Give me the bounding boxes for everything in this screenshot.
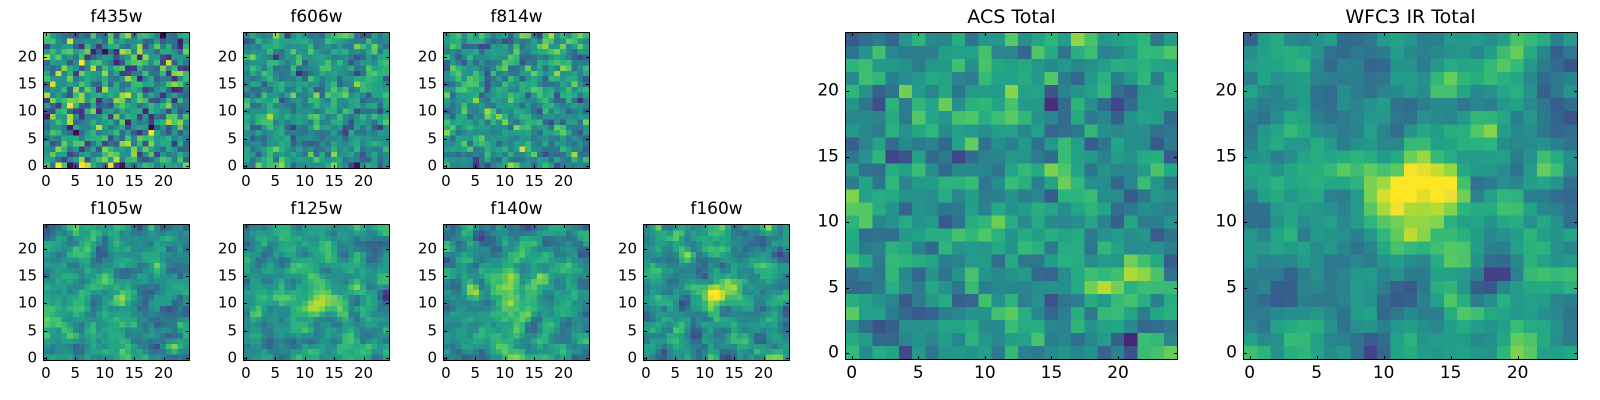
panel-f140w: f140w 0510152005101520 <box>397 198 590 391</box>
y-tick-label: 0 <box>397 351 437 366</box>
y-tick-mark <box>186 139 190 140</box>
y-tick-label: 0 <box>397 159 437 174</box>
x-tick-mark <box>134 165 135 169</box>
y-tick-label: 15 <box>0 77 37 92</box>
x-tick-mark <box>46 224 47 228</box>
x-tick-label: 10 <box>295 174 314 189</box>
y-tick-mark <box>1574 222 1578 223</box>
x-tick-label: 15 <box>725 366 744 381</box>
x-tick-mark <box>1451 32 1452 36</box>
x-tick-mark <box>505 165 506 169</box>
y-tick-label: 10 <box>1197 214 1237 231</box>
y-tick-mark <box>1174 222 1178 223</box>
y-tick-label: 15 <box>397 269 437 284</box>
x-tick-mark <box>564 165 565 169</box>
x-tick-label: 5 <box>71 366 81 381</box>
y-tick-label: 5 <box>597 323 637 338</box>
y-tick-label: 20 <box>1197 83 1237 100</box>
y-tick-mark <box>643 276 647 277</box>
y-tick-label: 20 <box>197 241 237 256</box>
x-tick-label: 15 <box>325 174 344 189</box>
x-tick-mark <box>852 356 853 360</box>
heatmap-f606w <box>244 33 389 168</box>
y-tick-label: 10 <box>799 214 839 231</box>
y-tick-mark <box>386 276 390 277</box>
x-tick-mark <box>675 224 676 228</box>
y-tick-label: 10 <box>0 296 37 311</box>
y-tick-mark <box>643 303 647 304</box>
y-tick-label: 0 <box>799 345 839 362</box>
y-tick-label: 0 <box>597 351 637 366</box>
y-tick-mark <box>43 111 47 112</box>
y-tick-mark <box>43 331 47 332</box>
y-tick-mark <box>243 84 247 85</box>
panel-title-f814w: f814w <box>443 6 590 28</box>
x-tick-mark <box>134 32 135 36</box>
y-tick-label: 15 <box>597 269 637 284</box>
x-tick-mark <box>1051 356 1052 360</box>
y-tick-label: 20 <box>397 49 437 64</box>
y-tick-mark <box>43 57 47 58</box>
y-tick-mark <box>845 91 849 92</box>
y-tick-label: 15 <box>197 269 237 284</box>
panel-title-acs-total: ACS Total <box>845 6 1178 28</box>
y-tick-label: 20 <box>799 83 839 100</box>
x-tick-mark <box>75 357 76 361</box>
x-tick-label: 15 <box>125 174 144 189</box>
x-tick-label: 20 <box>154 174 173 189</box>
x-tick-label: 5 <box>471 174 481 189</box>
x-tick-mark <box>1384 356 1385 360</box>
y-tick-mark <box>43 249 47 250</box>
x-tick-mark <box>246 32 247 36</box>
x-tick-label: 5 <box>71 174 81 189</box>
x-tick-mark <box>305 357 306 361</box>
x-tick-mark <box>275 224 276 228</box>
y-tick-mark <box>43 166 47 167</box>
y-tick-mark <box>443 166 447 167</box>
y-tick-mark <box>586 358 590 359</box>
x-tick-mark <box>305 165 306 169</box>
x-tick-mark <box>564 224 565 228</box>
x-tick-mark <box>475 224 476 228</box>
y-tick-label: 5 <box>397 131 437 146</box>
x-tick-label: 20 <box>554 366 573 381</box>
x-tick-mark <box>164 32 165 36</box>
y-tick-label: 5 <box>0 131 37 146</box>
y-tick-label: 5 <box>397 323 437 338</box>
y-tick-label: 10 <box>597 296 637 311</box>
x-tick-label: 10 <box>95 366 114 381</box>
x-tick-mark <box>705 357 706 361</box>
panel-title-f105w: f105w <box>43 198 190 220</box>
x-tick-mark <box>675 357 676 361</box>
x-tick-mark <box>75 165 76 169</box>
x-tick-mark <box>534 165 535 169</box>
y-tick-mark <box>386 139 390 140</box>
x-tick-mark <box>534 32 535 36</box>
x-tick-mark <box>764 357 765 361</box>
y-tick-mark <box>186 84 190 85</box>
y-tick-mark <box>1574 91 1578 92</box>
x-tick-label: 0 <box>41 174 51 189</box>
panel-acs-total: ACS Total 0510152005101520 <box>799 6 1178 390</box>
x-tick-mark <box>646 224 647 228</box>
y-tick-mark <box>786 303 790 304</box>
x-tick-mark <box>534 357 535 361</box>
x-tick-mark <box>764 224 765 228</box>
y-tick-label: 10 <box>0 104 37 119</box>
y-tick-mark <box>1174 288 1178 289</box>
x-tick-label: 15 <box>1041 365 1063 382</box>
y-tick-mark <box>243 57 247 58</box>
x-tick-mark <box>1518 356 1519 360</box>
figure-canvas: f435w 0510152005101520 f606w 05101520051… <box>0 0 1600 400</box>
axes-acs-total <box>845 32 1178 360</box>
x-tick-label: 10 <box>974 365 996 382</box>
x-tick-mark <box>334 357 335 361</box>
y-tick-mark <box>586 111 590 112</box>
y-tick-label: 10 <box>197 104 237 119</box>
x-tick-mark <box>305 32 306 36</box>
y-tick-label: 20 <box>197 49 237 64</box>
y-tick-label: 15 <box>799 148 839 165</box>
y-tick-mark <box>43 358 47 359</box>
y-tick-mark <box>443 139 447 140</box>
y-tick-mark <box>186 111 190 112</box>
x-tick-label: 0 <box>441 366 451 381</box>
y-tick-mark <box>386 111 390 112</box>
y-tick-mark <box>443 111 447 112</box>
y-tick-label: 15 <box>197 77 237 92</box>
y-tick-mark <box>43 139 47 140</box>
y-tick-mark <box>186 331 190 332</box>
x-tick-mark <box>446 32 447 36</box>
x-tick-mark <box>46 32 47 36</box>
y-tick-label: 0 <box>1197 345 1237 362</box>
heatmap-wfc3-ir-total <box>1244 33 1577 359</box>
y-tick-label: 0 <box>197 351 237 366</box>
y-tick-label: 20 <box>0 49 37 64</box>
x-tick-label: 5 <box>271 366 281 381</box>
x-tick-mark <box>364 32 365 36</box>
x-tick-mark <box>275 357 276 361</box>
x-tick-mark <box>734 224 735 228</box>
x-tick-label: 20 <box>1107 365 1129 382</box>
panel-title-f435w: f435w <box>43 6 190 28</box>
panel-title-wfc3-ir-total: WFC3 IR Total <box>1243 6 1578 28</box>
x-tick-label: 5 <box>1311 365 1322 382</box>
x-tick-mark <box>75 224 76 228</box>
y-tick-mark <box>786 358 790 359</box>
x-tick-mark <box>1317 356 1318 360</box>
x-tick-label: 20 <box>554 174 573 189</box>
panel-f814w: f814w 0510152005101520 <box>397 6 590 199</box>
y-tick-mark <box>845 288 849 289</box>
y-tick-mark <box>186 276 190 277</box>
panel-title-f160w: f160w <box>643 198 790 220</box>
y-tick-label: 5 <box>799 279 839 296</box>
y-tick-mark <box>243 111 247 112</box>
y-tick-mark <box>1243 353 1247 354</box>
x-tick-mark <box>734 357 735 361</box>
panel-f105w: f105w 0510152005101520 <box>0 198 190 391</box>
y-tick-mark <box>243 139 247 140</box>
heatmap-f105w <box>44 225 189 360</box>
y-tick-label: 15 <box>0 269 37 284</box>
x-tick-mark <box>475 165 476 169</box>
y-tick-label: 20 <box>597 241 637 256</box>
y-tick-mark <box>643 358 647 359</box>
panel-f435w: f435w 0510152005101520 <box>0 6 190 199</box>
x-tick-mark <box>852 32 853 36</box>
y-tick-mark <box>1243 222 1247 223</box>
x-tick-mark <box>985 356 986 360</box>
y-tick-mark <box>186 57 190 58</box>
panel-title-f606w: f606w <box>243 6 390 28</box>
axes-f105w <box>43 224 190 361</box>
heatmap-f814w <box>444 33 589 168</box>
axes-f435w <box>43 32 190 169</box>
x-tick-mark <box>105 165 106 169</box>
x-tick-mark <box>564 32 565 36</box>
x-tick-mark <box>1451 356 1452 360</box>
y-tick-mark <box>386 303 390 304</box>
y-tick-mark <box>243 358 247 359</box>
y-tick-label: 20 <box>397 241 437 256</box>
heatmap-acs-total <box>846 33 1177 359</box>
y-tick-mark <box>43 276 47 277</box>
panel-title-f140w: f140w <box>443 198 590 220</box>
x-tick-mark <box>1051 32 1052 36</box>
y-tick-mark <box>586 331 590 332</box>
axes-f140w <box>443 224 590 361</box>
y-tick-mark <box>243 276 247 277</box>
axes-f814w <box>443 32 590 169</box>
x-tick-mark <box>1250 32 1251 36</box>
x-tick-mark <box>164 357 165 361</box>
x-tick-label: 20 <box>1507 365 1529 382</box>
x-tick-mark <box>1317 32 1318 36</box>
x-tick-label: 20 <box>754 366 773 381</box>
y-tick-mark <box>443 358 447 359</box>
y-tick-label: 5 <box>1197 279 1237 296</box>
x-tick-mark <box>134 357 135 361</box>
x-tick-label: 5 <box>471 366 481 381</box>
y-tick-mark <box>586 303 590 304</box>
x-tick-label: 10 <box>295 366 314 381</box>
axes-wfc3-ir-total <box>1243 32 1578 360</box>
y-tick-mark <box>186 303 190 304</box>
heatmap-f160w <box>644 225 789 360</box>
x-tick-mark <box>446 224 447 228</box>
x-tick-mark <box>105 357 106 361</box>
y-tick-mark <box>243 249 247 250</box>
y-tick-mark <box>386 166 390 167</box>
y-tick-label: 10 <box>397 104 437 119</box>
y-tick-label: 5 <box>0 323 37 338</box>
y-tick-mark <box>386 249 390 250</box>
y-tick-mark <box>386 84 390 85</box>
y-tick-mark <box>586 249 590 250</box>
x-tick-mark <box>918 356 919 360</box>
x-tick-label: 5 <box>671 366 681 381</box>
y-tick-label: 15 <box>1197 148 1237 165</box>
x-tick-mark <box>1518 32 1519 36</box>
x-tick-mark <box>164 165 165 169</box>
x-tick-label: 10 <box>495 366 514 381</box>
x-tick-mark <box>105 32 106 36</box>
y-tick-label: 20 <box>0 241 37 256</box>
y-tick-label: 10 <box>197 296 237 311</box>
x-tick-mark <box>364 165 365 169</box>
heatmap-f125w <box>244 225 389 360</box>
x-tick-label: 0 <box>441 174 451 189</box>
y-tick-mark <box>1174 157 1178 158</box>
axes-f160w <box>643 224 790 361</box>
y-tick-mark <box>845 157 849 158</box>
y-tick-mark <box>443 276 447 277</box>
x-tick-label: 5 <box>913 365 924 382</box>
y-tick-mark <box>43 84 47 85</box>
y-tick-mark <box>1574 157 1578 158</box>
panel-f125w: f125w 0510152005101520 <box>197 198 390 391</box>
x-tick-mark <box>105 224 106 228</box>
x-tick-mark <box>1384 32 1385 36</box>
x-tick-label: 0 <box>1244 365 1255 382</box>
x-tick-label: 15 <box>525 174 544 189</box>
y-tick-mark <box>586 139 590 140</box>
heatmap-f435w <box>44 33 189 168</box>
y-tick-label: 5 <box>197 323 237 338</box>
y-tick-mark <box>1174 353 1178 354</box>
x-tick-mark <box>134 224 135 228</box>
y-tick-mark <box>1243 288 1247 289</box>
y-tick-mark <box>1174 91 1178 92</box>
y-tick-mark <box>443 303 447 304</box>
y-tick-label: 10 <box>397 296 437 311</box>
x-tick-mark <box>705 224 706 228</box>
x-tick-label: 0 <box>241 366 251 381</box>
x-tick-label: 15 <box>125 366 144 381</box>
y-tick-mark <box>186 358 190 359</box>
x-tick-mark <box>334 32 335 36</box>
panel-wfc3-ir-total: WFC3 IR Total 0510152005101520 <box>1197 6 1578 390</box>
x-tick-label: 10 <box>1373 365 1395 382</box>
y-tick-mark <box>386 358 390 359</box>
x-tick-mark <box>164 224 165 228</box>
y-tick-mark <box>386 331 390 332</box>
y-tick-mark <box>243 303 247 304</box>
x-tick-label: 10 <box>95 174 114 189</box>
y-tick-mark <box>443 57 447 58</box>
x-tick-label: 10 <box>695 366 714 381</box>
y-tick-mark <box>1243 91 1247 92</box>
y-tick-label: 5 <box>197 131 237 146</box>
heatmap-f140w <box>444 225 589 360</box>
x-tick-label: 0 <box>641 366 651 381</box>
y-tick-mark <box>586 84 590 85</box>
x-tick-mark <box>505 32 506 36</box>
x-tick-mark <box>564 357 565 361</box>
x-tick-mark <box>334 224 335 228</box>
axes-f125w <box>243 224 390 361</box>
y-tick-mark <box>586 166 590 167</box>
y-tick-mark <box>786 276 790 277</box>
y-tick-mark <box>443 84 447 85</box>
y-tick-mark <box>186 166 190 167</box>
x-tick-mark <box>246 224 247 228</box>
y-tick-mark <box>43 303 47 304</box>
x-tick-mark <box>475 357 476 361</box>
y-tick-mark <box>243 331 247 332</box>
y-tick-mark <box>786 331 790 332</box>
y-tick-mark <box>386 57 390 58</box>
x-tick-mark <box>305 224 306 228</box>
y-tick-mark <box>643 249 647 250</box>
y-tick-mark <box>1243 157 1247 158</box>
x-tick-label: 0 <box>846 365 857 382</box>
x-tick-mark <box>1250 356 1251 360</box>
x-tick-label: 20 <box>354 174 373 189</box>
y-tick-mark <box>443 249 447 250</box>
y-tick-label: 0 <box>0 159 37 174</box>
y-tick-mark <box>643 331 647 332</box>
y-tick-mark <box>586 276 590 277</box>
x-tick-label: 20 <box>154 366 173 381</box>
x-tick-mark <box>985 32 986 36</box>
x-tick-mark <box>505 224 506 228</box>
x-tick-label: 15 <box>325 366 344 381</box>
axes-f606w <box>243 32 390 169</box>
x-tick-mark <box>534 224 535 228</box>
x-tick-mark <box>918 32 919 36</box>
x-tick-mark <box>334 165 335 169</box>
x-tick-label: 20 <box>354 366 373 381</box>
panel-title-f125w: f125w <box>243 198 390 220</box>
y-tick-mark <box>786 249 790 250</box>
x-tick-label: 5 <box>271 174 281 189</box>
y-tick-mark <box>845 353 849 354</box>
x-tick-label: 15 <box>525 366 544 381</box>
x-tick-mark <box>75 32 76 36</box>
x-tick-label: 0 <box>241 174 251 189</box>
y-tick-label: 0 <box>197 159 237 174</box>
x-tick-mark <box>275 165 276 169</box>
x-tick-mark <box>505 357 506 361</box>
x-tick-mark <box>275 32 276 36</box>
panel-f606w: f606w 0510152005101520 <box>197 6 390 199</box>
panel-f160w: f160w 0510152005101520 <box>597 198 790 391</box>
x-tick-mark <box>364 357 365 361</box>
x-tick-label: 15 <box>1440 365 1462 382</box>
y-tick-mark <box>586 57 590 58</box>
y-tick-mark <box>443 331 447 332</box>
x-tick-mark <box>1118 356 1119 360</box>
y-tick-mark <box>243 166 247 167</box>
x-tick-mark <box>475 32 476 36</box>
x-tick-label: 10 <box>495 174 514 189</box>
x-tick-mark <box>1118 32 1119 36</box>
x-tick-label: 0 <box>41 366 51 381</box>
y-tick-mark <box>186 249 190 250</box>
y-tick-mark <box>1574 353 1578 354</box>
y-tick-mark <box>845 222 849 223</box>
x-tick-mark <box>364 224 365 228</box>
y-tick-label: 15 <box>397 77 437 92</box>
y-tick-mark <box>1574 288 1578 289</box>
y-tick-label: 0 <box>0 351 37 366</box>
